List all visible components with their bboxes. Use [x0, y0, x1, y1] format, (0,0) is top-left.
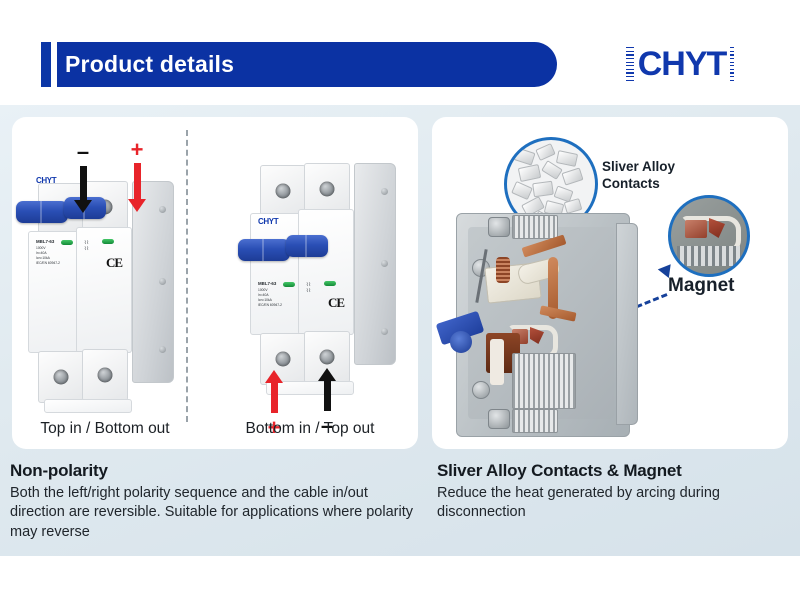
product-details-page: Product details CHYT — [0, 0, 800, 591]
breaker-cutaway — [456, 213, 656, 439]
breaker-b-spec-3: IEC/EN 60947-2 — [258, 303, 282, 308]
sign-plus-a: + — [131, 142, 144, 157]
breaker-a-indicator-left — [61, 240, 73, 245]
right-caption-heading: Sliver Alloy Contacts & Magnet — [437, 461, 792, 481]
right-caption-block: Sliver Alloy Contacts & Magnet Reduce th… — [437, 461, 792, 523]
logo-wordmark: CHYT — [638, 47, 727, 81]
breaker-b-side — [354, 163, 396, 365]
header-accent-bar — [41, 42, 51, 87]
arrow-a-minus: – — [74, 144, 92, 213]
arrow-a-plus: + — [128, 142, 146, 212]
brand-logo: CHYT — [597, 40, 763, 88]
cutaway-arc-chamber-top — [512, 215, 558, 239]
magnet-callout-circle — [668, 195, 750, 277]
cutaway-terminal-screw-bottom — [488, 409, 510, 429]
left-caption-heading: Non-polarity — [10, 461, 420, 481]
breaker-a-schematic: ⌇⌇⌇⌇ — [84, 241, 89, 252]
page-title: Product details — [65, 42, 535, 87]
caption-top-in-bottom-out: Top in / Bottom out — [20, 420, 190, 438]
logo-bars-left — [626, 47, 634, 81]
breaker-a-logo: CHYT — [36, 176, 56, 185]
left-caption-body: Both the left/right polarity sequence an… — [10, 484, 420, 542]
cutaway-terminal-screw-top — [488, 217, 510, 237]
cutaway-arc-splitter — [512, 353, 576, 409]
left-caption-block: Non-polarity Both the left/right polarit… — [10, 461, 420, 542]
breaker-b-indicator-right — [324, 281, 336, 286]
magnet-label: Magnet — [668, 275, 735, 297]
breaker-b-lever-right — [286, 235, 328, 257]
breaker-a-indicator-right — [102, 239, 114, 244]
logo-bars-right — [730, 47, 734, 81]
breaker-b-schematic: ⌇⌇⌇⌇ — [306, 283, 311, 294]
sliver-alloy-label-line2: Contacts — [602, 176, 675, 193]
breaker-b-lever-left — [238, 239, 290, 261]
right-caption-body: Reduce the heat generated by arcing duri… — [437, 484, 792, 523]
non-polarity-panel: CHYT MBL7-63 1000V In=40A Icn=10kA IEC/E… — [12, 117, 418, 449]
breaker-a-lever-left — [16, 201, 68, 223]
breaker-a-ce-mark: CE — [106, 255, 122, 271]
cutaway-screw-bottom — [472, 381, 490, 399]
breaker-a-terminal-bottom-left — [38, 351, 84, 403]
contacts-magnet-panel: Sliver Alloy Contacts Magnet — [432, 117, 788, 449]
sliver-alloy-label-line1: Sliver Alloy — [602, 159, 675, 176]
sign-minus-a: – — [77, 144, 89, 159]
cutaway-side-shell — [616, 223, 638, 425]
panel-divider — [186, 130, 188, 422]
breaker-image-a: CHYT MBL7-63 1000V In=40A Icn=10kA IEC/E… — [14, 127, 189, 427]
breaker-a-model: MBL7-63 — [36, 239, 60, 246]
breaker-a-spec: MBL7-63 1000V In=40A Icn=10kA IEC/EN 609… — [36, 239, 60, 266]
breaker-b-logo: CHYT — [258, 217, 278, 226]
cutaway-arc-chamber-bottom — [512, 409, 558, 433]
cutaway-solenoid-plunger — [490, 339, 504, 385]
breaker-a-terminal-bottom-right — [82, 349, 128, 401]
breaker-b-spec: MBL7-63 1000V In=40A Icn=10kA IEC/EN 609… — [258, 281, 282, 308]
page-header: Product details CHYT — [0, 0, 800, 105]
cutaway-handle-knob — [450, 331, 472, 353]
breaker-a-foot — [44, 399, 132, 413]
caption-bottom-in-top-out: Bottom in / Top out — [220, 420, 400, 438]
breaker-image-b: CHYT MBL7-63 1000V In=40A Icn=10kA IEC/E… — [236, 117, 411, 409]
cutaway-spring — [496, 257, 510, 283]
breaker-b-terminal-top-right — [304, 163, 350, 215]
breaker-a-spec-3: IEC/EN 60947-2 — [36, 261, 60, 266]
breaker-b-indicator-left — [283, 282, 295, 287]
breaker-b-model: MBL7-63 — [258, 281, 282, 288]
sliver-alloy-label: Sliver Alloy Contacts — [602, 159, 675, 193]
breaker-b-ce-mark: CE — [328, 295, 344, 311]
breaker-b-body-right — [298, 209, 354, 335]
